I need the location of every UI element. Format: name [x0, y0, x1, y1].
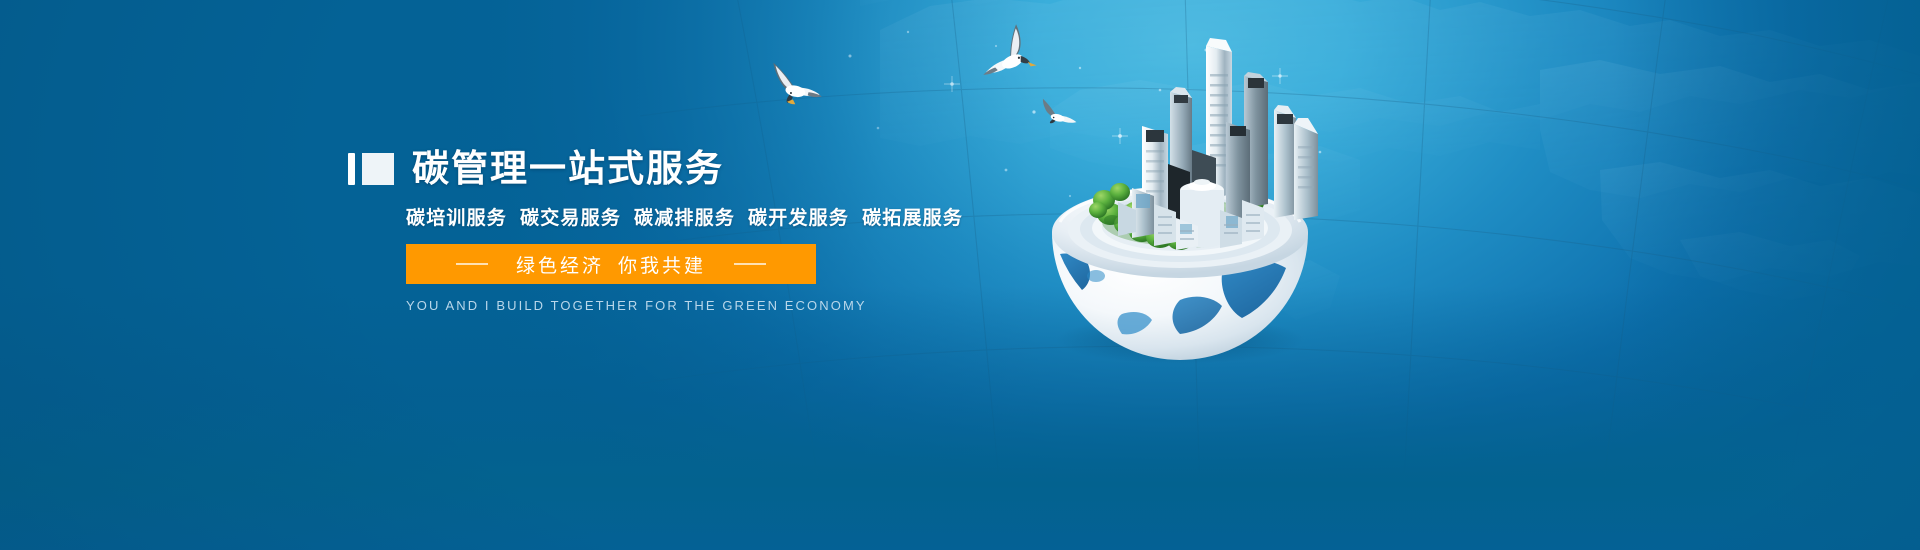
service-item: 碳培训服务 [406, 208, 507, 229]
slogan-left-word: 绿色经济 [516, 256, 604, 277]
service-item: 碳交易服务 [520, 208, 621, 229]
title-row: 碳管理一站式服务 [348, 146, 1108, 192]
hero-banner: 碳管理一站式服务 碳培训服务碳交易服务碳减排服务碳开发服务碳拓展服务 绿色经济你… [0, 0, 1920, 550]
slogan-rule-right [734, 263, 766, 265]
service-list: 碳培训服务碳交易服务碳减排服务碳开发服务碳拓展服务 [348, 203, 1108, 230]
slogan-text: 绿色经济你我共建 [516, 251, 706, 278]
banner-content: 碳管理一站式服务 碳培训服务碳交易服务碳减排服务碳开发服务碳拓展服务 绿色经济你… [348, 146, 1108, 313]
slogan-rule-left [456, 263, 488, 265]
banner-title: 碳管理一站式服务 [412, 148, 724, 190]
brand-square-icon [362, 153, 394, 185]
brand-mark-icon [348, 153, 394, 185]
slogan-right-word: 你我共建 [618, 256, 706, 277]
service-item: 碳拓展服务 [862, 208, 963, 229]
service-item: 碳减排服务 [634, 208, 735, 229]
slogan-badge: 绿色经济你我共建 [406, 244, 816, 284]
service-item: 碳开发服务 [748, 208, 849, 229]
brand-bar-icon [348, 153, 355, 185]
english-tagline: YOU AND I BUILD TOGETHER FOR THE GREEN E… [406, 298, 816, 313]
